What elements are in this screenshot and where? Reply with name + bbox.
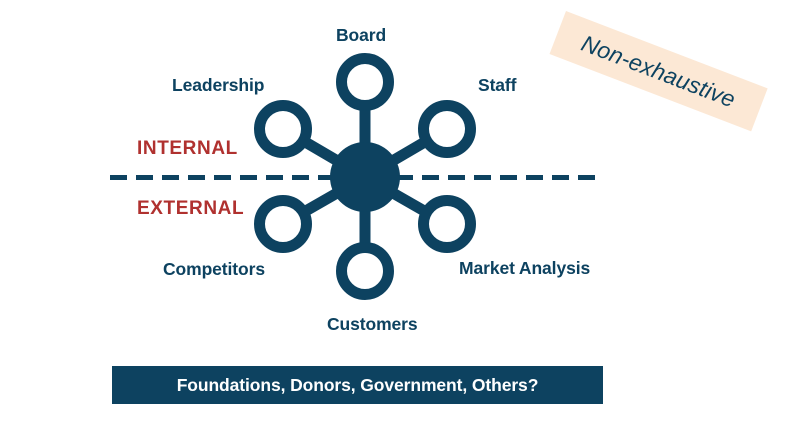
node-circle-customers[interactable] bbox=[342, 248, 389, 295]
node-label-board: Board bbox=[336, 26, 386, 45]
footer-bar: Foundations, Donors, Government, Others? bbox=[112, 366, 603, 404]
node-circle-market[interactable] bbox=[424, 201, 471, 248]
node-label-competitors: Competitors bbox=[163, 260, 265, 279]
node-label-customers: Customers bbox=[327, 315, 418, 334]
diagram-canvas: Board Leadership Staff Competitors Marke… bbox=[0, 0, 793, 442]
node-circle-staff[interactable] bbox=[424, 106, 471, 153]
internal-external-divider bbox=[110, 175, 603, 180]
node-label-market-analysis: Market Analysis bbox=[459, 259, 590, 278]
zone-label-external: EXTERNAL bbox=[137, 198, 244, 220]
node-circle-competitors[interactable] bbox=[260, 201, 307, 248]
zone-label-internal: INTERNAL bbox=[137, 138, 238, 160]
node-circle-leadership[interactable] bbox=[260, 106, 307, 153]
footer-bar-label: Foundations, Donors, Government, Others? bbox=[177, 375, 539, 396]
node-label-staff: Staff bbox=[478, 76, 516, 95]
node-label-leadership: Leadership bbox=[172, 76, 264, 95]
node-circle-board[interactable] bbox=[342, 59, 389, 106]
